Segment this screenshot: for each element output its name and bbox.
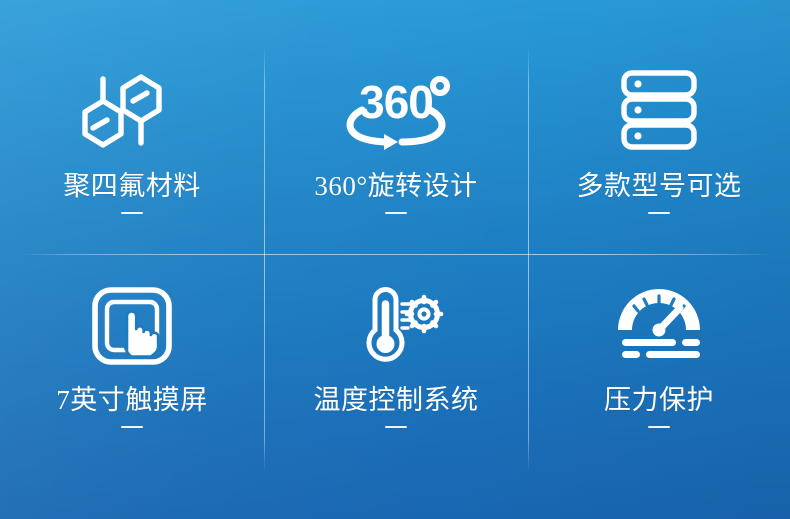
feature-divider-dash bbox=[121, 212, 143, 214]
feature-cell-multiple-models[interactable]: 多款型号可选 bbox=[528, 0, 790, 254]
feature-divider-dash bbox=[648, 212, 670, 214]
feature-cell-pressure-protection[interactable]: 压力保护 bbox=[528, 254, 790, 519]
feature-cell-touch-screen[interactable]: 7英寸触摸屏 bbox=[0, 254, 264, 519]
feature-cell-ptfe-material[interactable]: 聚四氟材料 bbox=[0, 0, 264, 254]
feature-label: 压力保护 bbox=[604, 386, 714, 414]
feature-divider-dash bbox=[121, 426, 143, 428]
feature-label: 多款型号可选 bbox=[577, 172, 742, 200]
pressure-gauge-icon bbox=[612, 280, 706, 366]
360-rotation-icon: 360 bbox=[332, 66, 460, 152]
feature-label: 聚四氟材料 bbox=[63, 172, 201, 200]
svg-text:360: 360 bbox=[359, 76, 433, 128]
feature-label: 360°旋转设计 bbox=[314, 172, 477, 200]
thermometer-gear-icon bbox=[348, 280, 444, 366]
feature-label: 7英寸触摸屏 bbox=[56, 386, 208, 414]
feature-divider-dash bbox=[385, 426, 407, 428]
feature-grid: 聚四氟材料 360 360°旋转设计 bbox=[0, 0, 790, 519]
feature-cell-temperature-control[interactable]: 温度控制系统 bbox=[264, 254, 528, 519]
feature-label: 温度控制系统 bbox=[314, 386, 479, 414]
molecule-hexagons-icon bbox=[77, 66, 187, 152]
server-rack-icon bbox=[619, 66, 699, 152]
feature-grid-banner: 聚四氟材料 360 360°旋转设计 bbox=[0, 0, 790, 519]
feature-cell-rotation-design[interactable]: 360 360°旋转设计 bbox=[264, 0, 528, 254]
feature-divider-dash bbox=[385, 212, 407, 214]
feature-divider-dash bbox=[648, 426, 670, 428]
touch-screen-hand-icon bbox=[91, 280, 173, 366]
